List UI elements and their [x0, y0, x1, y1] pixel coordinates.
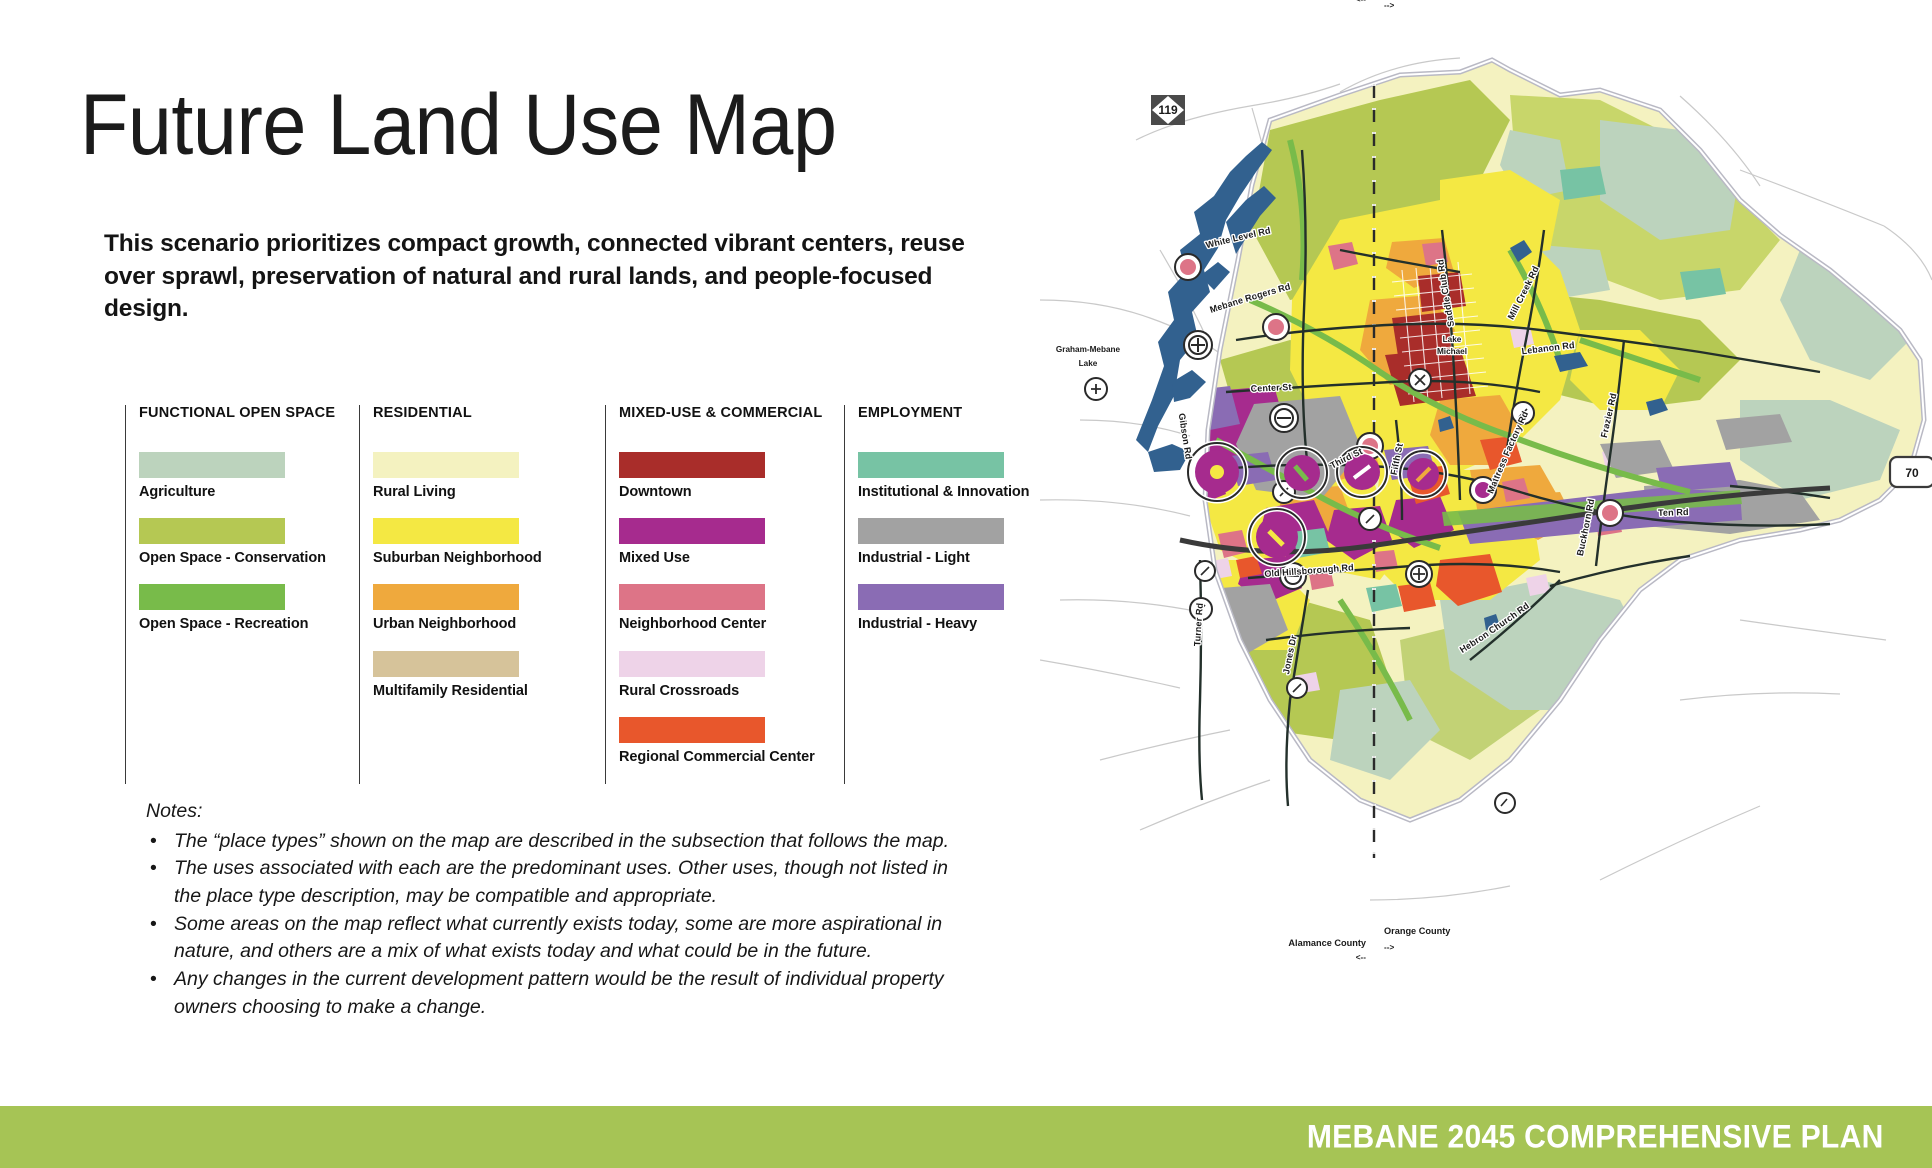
legend-item: Multifamily Residential	[373, 651, 585, 700]
note-item: •The “place types” shown on the map are …	[146, 828, 956, 856]
slide-root: Future Land Use Map This scenario priori…	[0, 0, 1932, 1168]
graham-mebane-lake-label-2: Lake	[1079, 359, 1098, 368]
legend-item: Downtown	[619, 452, 824, 501]
legend-swatch	[619, 717, 765, 743]
note-text: Some areas on the map reflect what curre…	[174, 913, 942, 963]
legend-label: Suburban Neighborhood	[373, 550, 585, 567]
notes-heading: Notes:	[146, 798, 956, 826]
legend-item: Institutional & Innovation	[858, 452, 1058, 501]
legend-item: Open Space - Recreation	[139, 584, 339, 633]
road-label-ten-rd: Ten Rd	[1658, 507, 1689, 518]
legend-label: Regional Commercial Center	[619, 749, 824, 766]
legend-label: Institutional & Innovation	[858, 484, 1058, 501]
legend-column-functional-open-space: FUNCTIONAL OPEN SPACE Agriculture Open S…	[125, 405, 339, 784]
bullet-icon: •	[150, 911, 157, 939]
shield-nc-119-north: 119	[1151, 95, 1185, 125]
note-item: •Some areas on the map reflect what curr…	[146, 911, 956, 966]
bullet-icon: •	[150, 828, 157, 856]
bullet-icon: •	[150, 966, 157, 994]
legend-label: Rural Living	[373, 484, 585, 501]
legend-item: Urban Neighborhood	[373, 584, 585, 633]
legend-label: Open Space - Conservation	[139, 550, 339, 567]
legend-swatch	[619, 651, 765, 677]
legend-swatch	[139, 584, 285, 610]
legend-label: Multifamily Residential	[373, 683, 585, 700]
orange-county-label-bottom: Orange County	[1384, 926, 1451, 936]
legend-swatch	[858, 584, 1004, 610]
legend-label: Rural Crossroads	[619, 683, 824, 700]
alamance-arrow-bottom: <--	[1356, 953, 1367, 962]
legend-item: Rural Living	[373, 452, 585, 501]
note-item: •The uses associated with each are the p…	[146, 855, 956, 910]
legend: FUNCTIONAL OPEN SPACE Agriculture Open S…	[125, 405, 1078, 784]
shield-us-70-east: 70	[1890, 457, 1932, 487]
left-panel: Future Land Use Map This scenario priori…	[0, 0, 1060, 1168]
legend-label: Urban Neighborhood	[373, 616, 585, 633]
legend-item: Industrial - Heavy	[858, 584, 1058, 633]
legend-swatch	[619, 584, 765, 610]
legend-heading: MIXED-USE & COMMERCIAL	[619, 405, 824, 423]
alamance-arrow-top: <--	[1356, 0, 1367, 4]
legend-item: Rural Crossroads	[619, 651, 824, 700]
legend-swatch	[619, 518, 765, 544]
legend-swatch	[619, 452, 765, 478]
legend-label: Industrial - Heavy	[858, 616, 1058, 633]
legend-label: Downtown	[619, 484, 824, 501]
lake-michael-label-2: Michael	[1437, 347, 1467, 356]
footer-title: MEBANE 2045 COMPREHENSIVE PLAN	[1307, 1119, 1884, 1156]
legend-swatch	[139, 452, 285, 478]
orange-arrow-bottom: -->	[1384, 943, 1394, 952]
legend-heading: FUNCTIONAL OPEN SPACE	[139, 405, 339, 423]
note-text: Any changes in the current development p…	[174, 968, 944, 1018]
page-title: Future Land Use Map	[80, 82, 836, 168]
legend-label: Open Space - Recreation	[139, 616, 339, 633]
legend-swatch	[373, 452, 519, 478]
note-text: The “place types” shown on the map are d…	[174, 830, 949, 852]
bullet-icon: •	[150, 855, 157, 883]
legend-item: Open Space - Conservation	[139, 518, 339, 567]
footer-bar: MEBANE 2045 COMPREHENSIVE PLAN	[0, 1106, 1932, 1168]
legend-column-mixed-use-commercial: MIXED-USE & COMMERCIAL Downtown Mixed Us…	[605, 405, 824, 784]
legend-item: Mixed Use	[619, 518, 824, 567]
legend-item: Suburban Neighborhood	[373, 518, 585, 567]
svg-text:119: 119	[1158, 103, 1178, 117]
legend-label: Agriculture	[139, 484, 339, 501]
legend-item: Agriculture	[139, 452, 339, 501]
legend-swatch	[373, 584, 519, 610]
note-item: •Any changes in the current development …	[146, 966, 956, 1021]
legend-item: Neighborhood Center	[619, 584, 824, 633]
lake-michael-label-1: Lake	[1443, 335, 1462, 344]
legend-label: Industrial - Light	[858, 550, 1058, 567]
county-label-south-left: Alamance County <--	[1288, 938, 1366, 962]
legend-label: Neighborhood Center	[619, 616, 824, 633]
county-label-north-right: Orange County -->	[1384, 0, 1451, 10]
legend-label: Mixed Use	[619, 550, 824, 567]
county-label-south-right: Orange County -->	[1384, 926, 1451, 952]
legend-swatch	[858, 452, 1004, 478]
legend-swatch	[373, 651, 519, 677]
road-label-center-st: Center St	[1250, 382, 1291, 394]
legend-swatch	[373, 518, 519, 544]
notes-list: •The “place types” shown on the map are …	[146, 828, 956, 1022]
legend-swatch	[139, 518, 285, 544]
orange-arrow-top: -->	[1384, 1, 1394, 10]
alamance-county-label-bottom: Alamance County	[1288, 938, 1366, 948]
note-text: The uses associated with each are the pr…	[174, 857, 948, 907]
legend-swatch	[858, 518, 1004, 544]
legend-heading: RESIDENTIAL	[373, 405, 585, 423]
legend-item: Industrial - Light	[858, 518, 1058, 567]
legend-item: Regional Commercial Center	[619, 717, 824, 766]
subtitle-text: This scenario prioritizes compact growth…	[104, 228, 984, 326]
notes-block: Notes: •The “place types” shown on the m…	[146, 798, 956, 1022]
legend-column-residential: RESIDENTIAL Rural Living Suburban Neighb…	[359, 405, 585, 784]
svg-text:70: 70	[1905, 466, 1919, 480]
legend-column-employment: EMPLOYMENT Institutional & Innovation In…	[844, 405, 1058, 784]
county-label-north-left: Alamance County <--	[1288, 0, 1366, 4]
graham-mebane-lake-label-1: Graham-Mebane	[1056, 345, 1121, 354]
future-land-use-map: 119 70 70 40 85 119	[1040, 0, 1932, 1080]
legend-heading: EMPLOYMENT	[858, 405, 1058, 423]
